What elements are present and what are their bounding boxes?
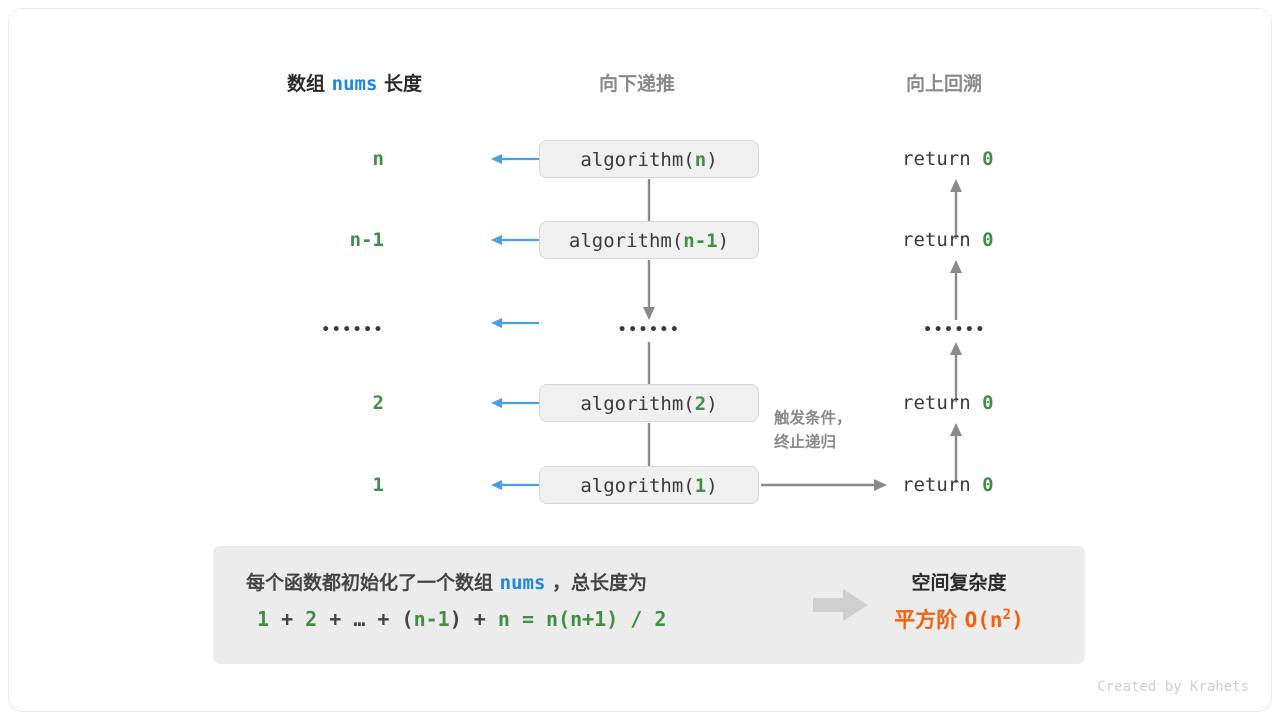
header-left-suffix: 长度 (384, 73, 422, 95)
summary-panel: 每个函数都初始化了一个数组 nums ，总长度为 1 + 2 + … + (n-… (213, 546, 1085, 664)
summary-description: 每个函数都初始化了一个数组 nums ，总长度为 (246, 568, 647, 595)
summary-result-value: 平方阶 O(n2) (854, 604, 1064, 634)
call-arg-2: n-1 (683, 230, 717, 252)
summary-formula: 1 + 2 + … + (n-1) + n = n(n+1) / 2 (257, 607, 666, 631)
call-box-row-2[interactable]: algorithm(n-1) (539, 221, 759, 259)
return-row-1: return 0 (902, 148, 994, 170)
call-prefix-2: algorithm( (569, 230, 683, 252)
return-label-5: return (902, 474, 971, 496)
call-suffix-5: ) (706, 475, 717, 497)
complexity-label: 平方阶 (894, 608, 957, 632)
formula-token-4: … (353, 607, 365, 631)
call-suffix-1: ) (706, 149, 717, 171)
call-arg-4: 2 (695, 393, 706, 415)
size-label-row-3-ellipsis: •••••• (289, 322, 384, 338)
size-label-row-5: 1 (289, 474, 384, 496)
summary-desc-pre: 每个函数都初始化了一个数组 (246, 572, 493, 594)
footer-credit: Created by Krahets (1097, 679, 1249, 695)
call-suffix-2: ) (718, 230, 729, 252)
trigger-condition-note: 触发条件， 终止递归 (774, 406, 852, 454)
diagram-card: 数组 nums 长度 向下递推 向上回溯 n algorithm(n) retu… (8, 8, 1272, 712)
base-case-return-arrow (761, 477, 891, 493)
size-label-row-2: n-1 (289, 229, 384, 251)
summary-result-title: 空间复杂度 (864, 568, 1054, 595)
header-middle-column: 向下递推 (599, 69, 675, 96)
call-box-row-4[interactable]: algorithm(2) (539, 384, 759, 422)
return-row-4: return 0 (902, 392, 994, 414)
header-left-code: nums (332, 73, 378, 95)
formula-token-8: ) (450, 607, 462, 631)
size-label-row-1: n (289, 148, 384, 170)
formula-token-7: n-1 (414, 607, 450, 631)
header-left-column: 数组 nums 长度 (287, 69, 422, 96)
formula-token-9: + (462, 607, 498, 631)
formula-token-1: + (269, 607, 305, 631)
trigger-note-line-2: 终止递归 (774, 430, 852, 454)
return-row-3-ellipsis: •••••• (902, 322, 1007, 338)
call-suffix-4: ) (706, 393, 717, 415)
formula-token-5: + (365, 607, 401, 631)
blue-arrow-row-3 (489, 315, 541, 331)
return-label-1: return (902, 148, 971, 170)
call-arg-5: 1 (695, 475, 706, 497)
return-value-5: 0 (982, 474, 993, 496)
down-arrow-2-to-3 (640, 260, 658, 322)
call-box-row-5[interactable]: algorithm(1) (539, 466, 759, 504)
header-right-column: 向上回溯 (906, 69, 982, 96)
return-value-1: 0 (982, 148, 993, 170)
call-box-row-3-ellipsis: •••••• (539, 322, 759, 338)
complexity-notation: O(n2) (965, 608, 1024, 632)
formula-token-2: 2 (305, 607, 317, 631)
call-prefix-1: algorithm( (580, 149, 694, 171)
formula-token-3: + (317, 607, 353, 631)
return-value-4: 0 (982, 392, 993, 414)
call-arg-1: n (695, 149, 706, 171)
return-label-4: return (902, 392, 971, 414)
return-row-5: return 0 (902, 474, 994, 496)
complexity-tail: ) (1011, 608, 1024, 632)
complexity-big-o: O(n (965, 608, 1003, 632)
formula-token-6: ( (402, 607, 414, 631)
trigger-note-line-1: 触发条件， (774, 406, 852, 430)
call-box-row-1[interactable]: algorithm(n) (539, 140, 759, 178)
return-row-2: return 0 (902, 229, 994, 251)
up-arrow-3-to-2 (947, 260, 965, 322)
return-value-2: 0 (982, 229, 993, 251)
formula-token-0: 1 (257, 607, 269, 631)
summary-desc-post: ，总长度为 (552, 572, 647, 594)
call-prefix-5: algorithm( (580, 475, 694, 497)
formula-token-10: n = n(n+1) / 2 (498, 607, 667, 631)
call-prefix-4: algorithm( (580, 393, 694, 415)
summary-desc-code: nums (500, 572, 546, 594)
size-label-row-4: 2 (289, 392, 384, 414)
complexity-exponent: 2 (1003, 607, 1012, 623)
return-label-2: return (902, 229, 971, 251)
header-left-prefix: 数组 (287, 73, 325, 95)
